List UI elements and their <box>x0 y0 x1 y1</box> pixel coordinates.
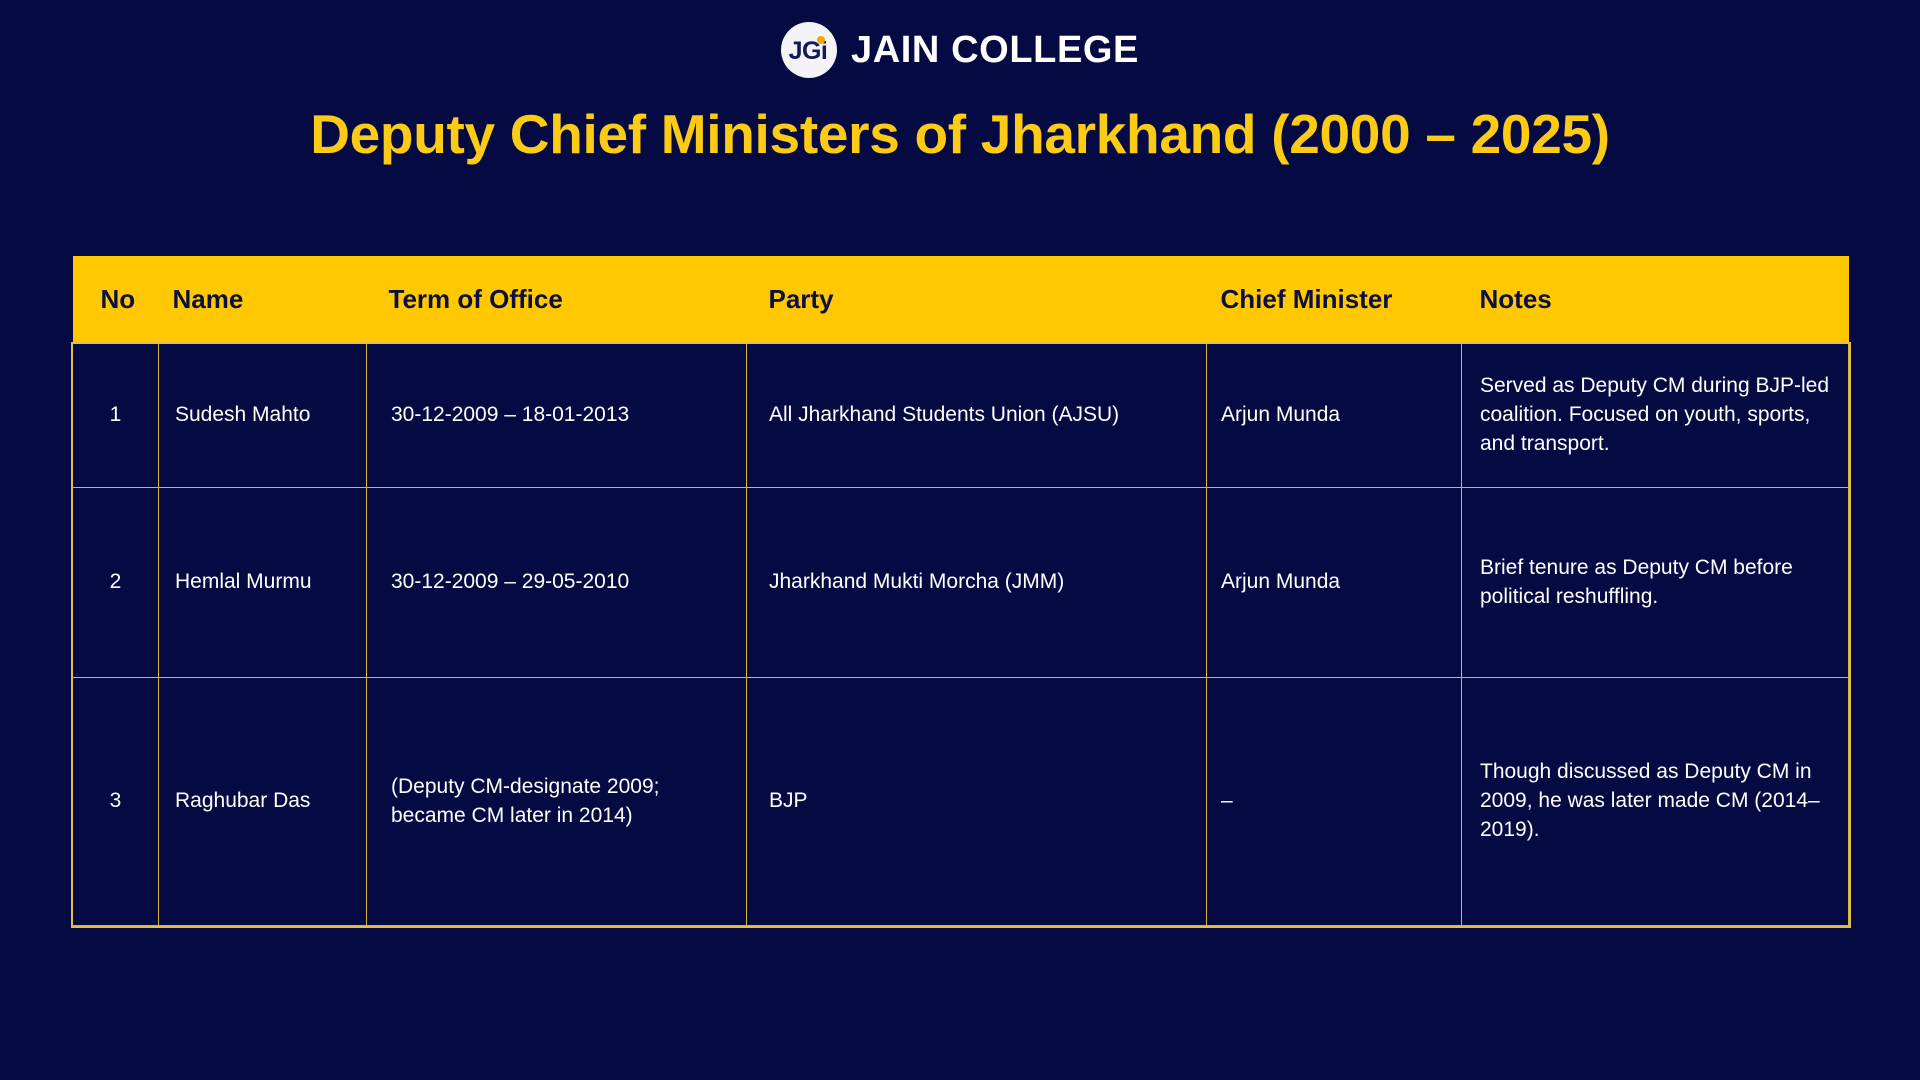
table-body: 1 Sudesh Mahto 30-12-2009 – 18-01-2013 A… <box>73 344 1849 926</box>
cell-no: 3 <box>73 678 159 926</box>
ministers-table-container: No Name Term of Office Party Chief Minis… <box>72 256 1848 926</box>
cell-notes: Brief tenure as Deputy CM before politic… <box>1462 488 1849 678</box>
cell-term: (Deputy CM-designate 2009; became CM lat… <box>367 678 747 926</box>
column-header-party: Party <box>747 256 1207 344</box>
brand-header: JGi JAIN COLLEGE <box>0 0 1920 78</box>
cell-term: 30-12-2009 – 18-01-2013 <box>367 344 747 488</box>
column-header-term: Term of Office <box>367 256 747 344</box>
brand-title: JAIN COLLEGE <box>851 29 1139 72</box>
column-header-chief-minister: Chief Minister <box>1207 256 1462 344</box>
cell-party: BJP <box>747 678 1207 926</box>
ministers-table: No Name Term of Office Party Chief Minis… <box>72 256 1849 926</box>
cell-name: Raghubar Das <box>159 678 367 926</box>
jgi-logo-icon: JGi <box>781 22 837 78</box>
cell-chief-minister: Arjun Munda <box>1207 488 1462 678</box>
cell-party: Jharkhand Mukti Morcha (JMM) <box>747 488 1207 678</box>
table-header: No Name Term of Office Party Chief Minis… <box>73 256 1849 344</box>
jgi-logo-dot-icon <box>817 36 825 44</box>
cell-party: All Jharkhand Students Union (AJSU) <box>747 344 1207 488</box>
cell-notes: Served as Deputy CM during BJP-led coali… <box>1462 344 1849 488</box>
cell-term: 30-12-2009 – 29-05-2010 <box>367 488 747 678</box>
cell-notes: Though discussed as Deputy CM in 2009, h… <box>1462 678 1849 926</box>
cell-no: 1 <box>73 344 159 488</box>
page-title: Deputy Chief Ministers of Jharkhand (200… <box>0 102 1920 166</box>
table-row: 3 Raghubar Das (Deputy CM-designate 2009… <box>73 678 1849 926</box>
column-header-name: Name <box>159 256 367 344</box>
cell-no: 2 <box>73 488 159 678</box>
cell-chief-minister: – <box>1207 678 1462 926</box>
column-header-notes: Notes <box>1462 256 1849 344</box>
cell-chief-minister: Arjun Munda <box>1207 344 1462 488</box>
slide-canvas: JGi JAIN COLLEGE Deputy Chief Ministers … <box>0 0 1920 1080</box>
table-row: 2 Hemlal Murmu 30-12-2009 – 29-05-2010 J… <box>73 488 1849 678</box>
cell-name: Sudesh Mahto <box>159 344 367 488</box>
table-row: 1 Sudesh Mahto 30-12-2009 – 18-01-2013 A… <box>73 344 1849 488</box>
column-header-no: No <box>73 256 159 344</box>
table-header-row: No Name Term of Office Party Chief Minis… <box>73 256 1849 344</box>
cell-name: Hemlal Murmu <box>159 488 367 678</box>
